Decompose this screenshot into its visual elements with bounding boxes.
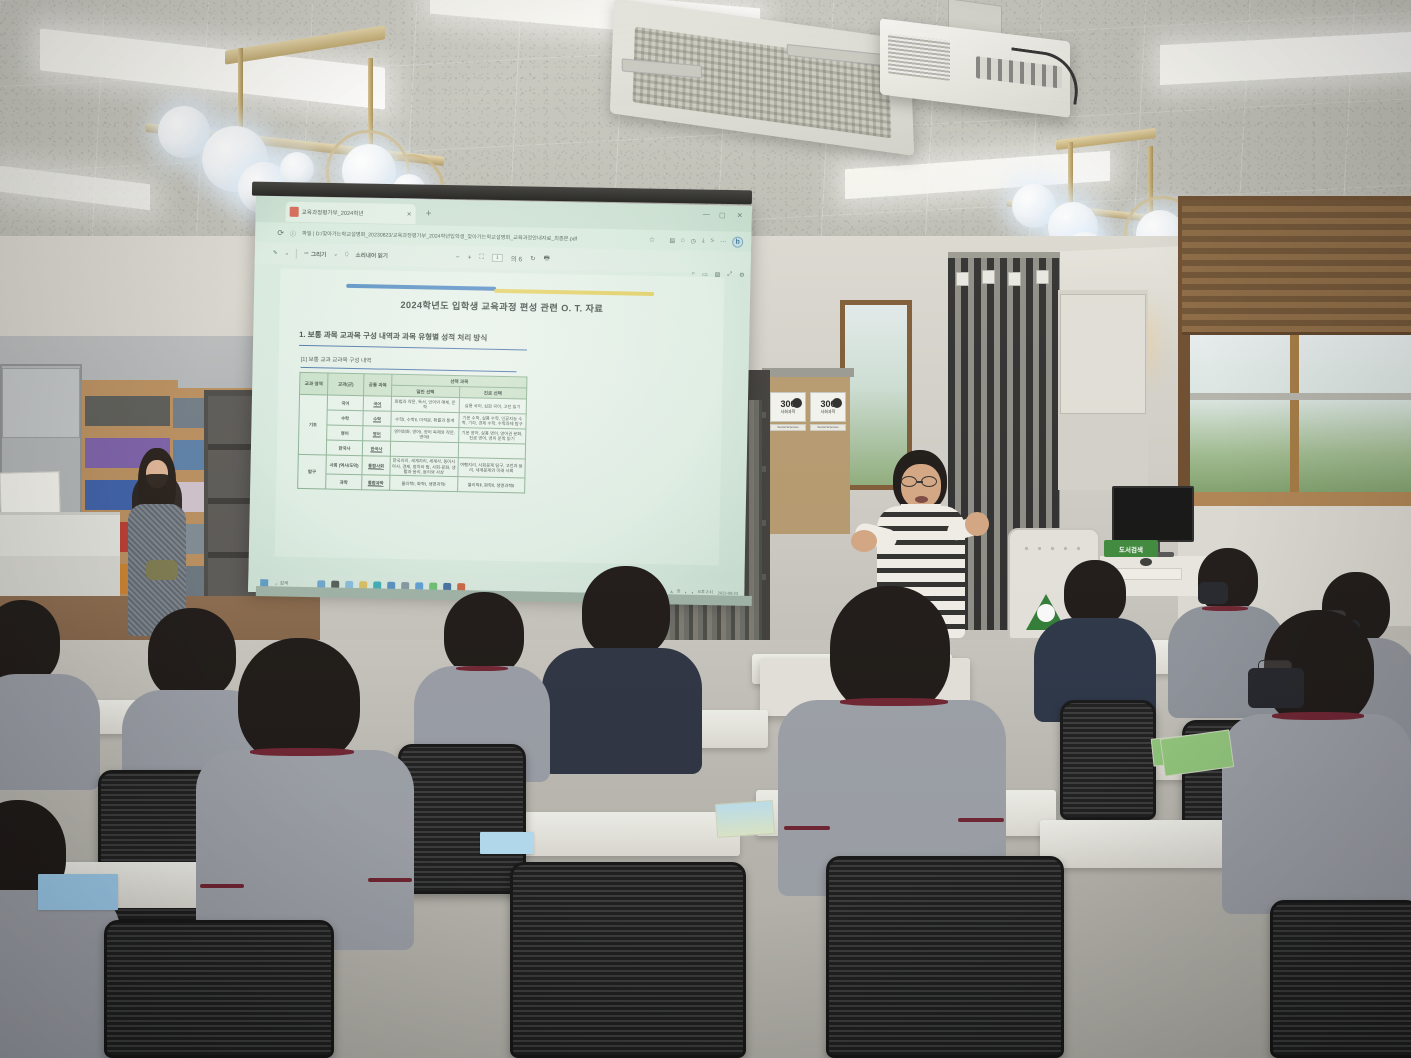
sleeve-trim: [368, 878, 412, 882]
computer-monitor: [1112, 486, 1194, 542]
td-general: 한국지리, 세계지리, 세계사, 동아시아사, 경제, 정치와 법, 사회·문화…: [390, 457, 458, 477]
td-common: 영어: [363, 426, 391, 442]
new-tab-button[interactable]: +: [426, 208, 432, 219]
shoulder-bag: [146, 560, 178, 580]
partition-clip: [1008, 272, 1021, 286]
glasses-icon: [921, 476, 937, 487]
td-general: [390, 442, 458, 458]
head: [444, 592, 524, 676]
collar-trim: [456, 666, 508, 671]
td-common: 수학: [363, 411, 391, 427]
glasses-bridge: [917, 481, 923, 483]
downloads-icon[interactable]: ⤓: [702, 237, 705, 244]
leaflet[interactable]: [715, 800, 775, 838]
td-group: 국어: [327, 395, 363, 411]
face-mask: [1248, 668, 1304, 708]
td-common: 한국사: [362, 441, 390, 457]
uniform-shirt: [0, 890, 120, 1058]
shelf-sign-label: 사회과학: [821, 410, 836, 414]
light-globe: [280, 152, 314, 186]
right-hand: [965, 512, 989, 536]
student: [0, 800, 120, 1058]
minimize-button[interactable]: —: [703, 211, 710, 218]
td-group: 한국사: [326, 440, 362, 456]
info-icon[interactable]: ⓘ: [290, 228, 296, 237]
student: [542, 566, 702, 766]
chair[interactable]: [398, 744, 526, 894]
td-common: 통합사회: [362, 456, 390, 476]
more-icon[interactable]: ⋯: [720, 238, 726, 245]
td-area: 기초: [298, 395, 327, 456]
mouth: [915, 496, 928, 503]
td-career: 기본 수학, 실용 수학, 인공지능 수학, 기하, 경제 수학, 수학과제 탐…: [458, 413, 526, 429]
td-career: 여행지리, 사회문제 탐구, 고전과 윤리, 세계문제와 미래 사회: [457, 458, 525, 478]
head: [1064, 560, 1126, 626]
face-mask: [1198, 582, 1228, 604]
sleeve-trim: [200, 884, 244, 888]
shelf-sign-sub: Social Sciences: [770, 424, 806, 431]
shelf-sign-label: 사회과학: [781, 410, 796, 414]
chair[interactable]: [510, 862, 746, 1058]
td-career: 기본 영어, 실용 영어, 영어권 문화, 진로 영어, 영미 문학 읽기: [458, 428, 526, 444]
classroom-scene: 300 사회과학 Social Sciences 300 사회과학 Social…: [0, 0, 1411, 1058]
head: [830, 586, 950, 714]
window-mullion: [1290, 335, 1299, 495]
th-area: 교과 영역: [300, 373, 328, 396]
left-hand: [851, 530, 877, 552]
paper[interactable]: [38, 874, 118, 910]
th-common: 공통 과목: [364, 374, 392, 397]
window-glass: [1190, 335, 1411, 495]
chevron-down-icon[interactable]: ⌄: [284, 251, 289, 257]
address-url: 파일 | D:/찾아가는학교설명회_20230823/교육과정평가부_2024학…: [302, 229, 577, 242]
td-common: 통합과학: [362, 475, 390, 491]
page-number-input[interactable]: 1: [492, 254, 503, 262]
page-total-label: 의 6: [511, 253, 523, 263]
window-rail: [1190, 393, 1411, 400]
history-icon[interactable]: ◷: [691, 237, 696, 244]
sleeve-trim: [958, 818, 1004, 822]
curriculum-table: 교과 영역 교과(군) 공통 과목 선택 과목 일반 선택 진로 선택 기초: [297, 372, 527, 494]
browser-toolbar-icons: ▤ ⌂ ◷ ⤓ ⍩ ⋯ b: [669, 235, 743, 247]
browser-tab-title: 교육과정평가부_2024학년: [302, 208, 364, 217]
td-area: 탐구: [298, 455, 327, 490]
projector-vent: [888, 33, 950, 81]
student: [1030, 560, 1158, 720]
td-career: [458, 443, 526, 459]
fit-page-button[interactable]: ⛶: [479, 253, 484, 261]
maximize-button[interactable]: ▢: [719, 211, 726, 219]
td-common: 국어: [363, 396, 391, 412]
student: [0, 600, 100, 780]
window-sill: [1180, 492, 1411, 506]
draw-label: 그리기: [311, 250, 327, 258]
td-group: 사회 (역사/도덕): [326, 455, 362, 475]
book-search-sign: 도서검색: [1104, 540, 1158, 557]
td-general: 영어회화, 영어Ⅰ, 영어 독해와 작문, 영어Ⅱ: [391, 427, 459, 443]
chair[interactable]: [826, 856, 1064, 1058]
th-group: 교과(군): [328, 373, 364, 396]
erase-icon[interactable]: ⬯: [345, 251, 349, 258]
partition-clip: [1036, 270, 1049, 284]
bookmark-star-icon[interactable]: ☆: [649, 236, 655, 244]
collar-trim: [250, 748, 354, 756]
head: [238, 638, 360, 764]
read-aloud-label: 소리내어 읽기: [355, 251, 388, 260]
storage-cabinet-door: [2, 368, 80, 438]
fullscreen-icon[interactable]: ⤢: [727, 271, 732, 278]
shelf-sign-dot-icon: [832, 398, 842, 408]
td-career: 실용 국어, 심화 국어, 고전 읽기: [459, 398, 527, 414]
td-general: 물리학Ⅰ, 화학Ⅰ, 생명과학Ⅰ: [390, 476, 458, 492]
copilot-icon[interactable]: b: [732, 236, 743, 247]
uniform-shirt: [0, 674, 100, 790]
chandelier-stem: [1068, 142, 1073, 208]
uniform-shirt: [542, 648, 702, 774]
uniform-shirt: [1222, 714, 1411, 914]
window-blinds: [1182, 200, 1411, 335]
ac-grille: [633, 27, 892, 139]
collections-icon[interactable]: ▤: [669, 237, 675, 244]
close-icon[interactable]: ✕: [407, 211, 412, 218]
accent-bar-blue: [346, 284, 496, 291]
close-window-button[interactable]: ✕: [737, 212, 743, 220]
rotate-button[interactable]: ↻: [530, 255, 536, 263]
chair-perforations: [1020, 542, 1088, 558]
profile-icon[interactable]: ⍩: [711, 238, 715, 245]
sign-board-rail: [762, 368, 854, 377]
collar-trim: [1272, 712, 1364, 720]
glasses-icon: [901, 476, 917, 487]
shelf-sign: 300 사회과학: [770, 392, 806, 422]
partition-clip: [982, 270, 995, 284]
td-group: 영어: [327, 425, 363, 441]
td-career: 물리학Ⅱ, 화학Ⅱ, 생명과학Ⅱ: [457, 477, 525, 493]
zoom-out-button[interactable]: −: [456, 254, 460, 261]
td-group: 과학: [326, 474, 362, 490]
head: [0, 600, 60, 684]
student: [1222, 610, 1411, 910]
cabinet-door: [1060, 294, 1146, 414]
chair[interactable]: [1270, 900, 1411, 1058]
accent-bar-yellow: [494, 289, 654, 296]
settings-icon[interactable]: ⚙: [739, 272, 745, 279]
td-group: 수학: [327, 410, 363, 426]
print-button[interactable]: 🖶: [544, 253, 550, 264]
library-sign-board: 300 사회과학 Social Sciences 300 사회과학 Social…: [766, 374, 850, 534]
draw-button[interactable]: ✑ 그리기: [304, 250, 326, 258]
partition-clip: [956, 272, 969, 286]
wall-poster: [0, 471, 61, 517]
td-general: 수학Ⅰ, 수학Ⅱ, 미적분, 확률과 통계: [391, 412, 459, 428]
chair[interactable]: [104, 920, 334, 1058]
reload-icon[interactable]: ⟳: [277, 228, 284, 237]
collar-trim: [840, 698, 948, 706]
slide-page: 2024학년도 입학생 교육과정 편성 관련 O. T. 자료 1. 보통 과목…: [275, 269, 725, 566]
shelf-sign: 300 사회과학: [810, 392, 846, 422]
paper[interactable]: [480, 832, 534, 854]
pdf-page-controls: − + ⛶ 1 의 6 ↻ 🖶: [456, 252, 550, 265]
student: [196, 638, 414, 938]
projection-screen: 교육과정평가부_2024학년 ✕ + — ▢ ✕ ⟳ ⓘ 파일 | D:/찾아가…: [248, 196, 752, 602]
browser-tab[interactable]: 교육과정평가부_2024학년 ✕: [285, 202, 415, 225]
shelf-sign-sub: Social Sciences: [810, 424, 846, 431]
table-row: 과학 통합과학 물리학Ⅰ, 화학Ⅰ, 생명과학Ⅰ 물리학Ⅱ, 화학Ⅱ, 생명과학…: [298, 474, 525, 494]
favorites-icon[interactable]: ⌂: [681, 238, 685, 244]
chair[interactable]: [1060, 700, 1156, 820]
slide-heading-rule: [299, 345, 527, 351]
pen-icon[interactable]: ✎: [273, 250, 278, 256]
zoom-in-button[interactable]: +: [468, 254, 472, 261]
sleeve-trim: [784, 826, 830, 830]
pdf-file-icon: [290, 207, 299, 217]
student: [778, 586, 1006, 886]
td-general: 화법과 작문, 독서, 언어와 매체, 문학: [391, 397, 459, 413]
slide-subheading-rule: [301, 367, 517, 373]
read-aloud-button[interactable]: 소리내어 읽기: [355, 251, 388, 260]
shelf-sign-dot-icon: [792, 398, 802, 408]
chevron-down-icon[interactable]: ⌄: [333, 252, 338, 258]
head: [582, 566, 670, 658]
book-search-label: 도서검색: [1119, 544, 1143, 554]
pdf-canvas: 2024학년도 입학생 교육과정 편성 관련 O. T. 자료 1. 보통 과목…: [275, 269, 725, 566]
